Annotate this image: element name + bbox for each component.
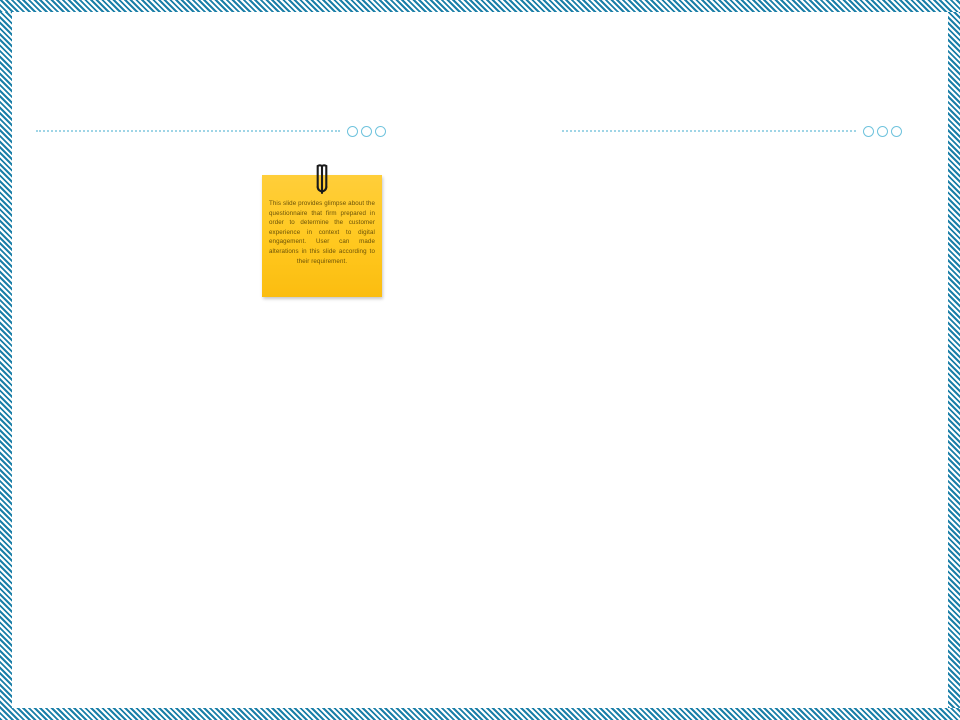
slide-root: Questionnaire for Determining Customer E… (0, 0, 960, 720)
decoration-dots-left (36, 124, 386, 138)
circle-icon (361, 126, 372, 137)
frame-border-top (0, 0, 960, 12)
circle-icon (877, 126, 888, 137)
circle-icon (375, 126, 386, 137)
paperclip-icon (315, 159, 329, 195)
sticky-note-text: This slide provides glimpse about the qu… (269, 199, 375, 266)
frame-border-bottom (0, 708, 960, 720)
slide-canvas (12, 12, 948, 708)
circle-icon (891, 126, 902, 137)
sticky-note[interactable]: This slide provides glimpse about the qu… (262, 175, 382, 297)
dotted-line (36, 130, 340, 132)
dotted-line (562, 130, 856, 132)
circle-icon (863, 126, 874, 137)
frame-border-left (0, 0, 12, 720)
circle-icon (347, 126, 358, 137)
decoration-dots-right (562, 124, 902, 138)
frame-border-right (948, 0, 960, 720)
